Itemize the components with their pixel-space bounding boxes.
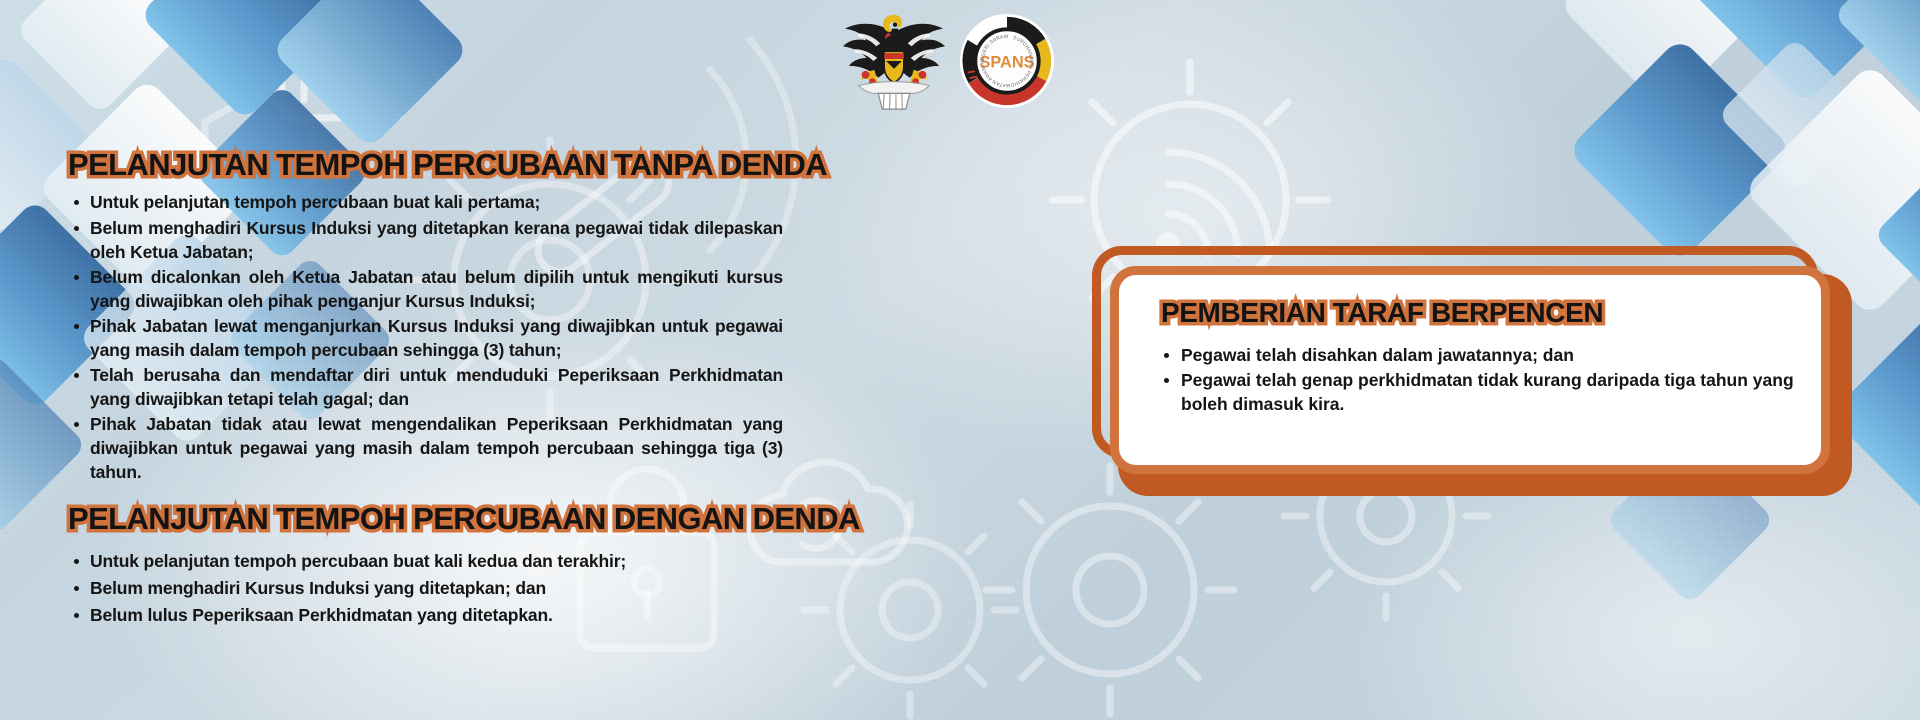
logo-row: SPANS SURUHANJAYA PERKHIDMATAN AWAM NEGE… <box>835 6 1085 116</box>
list-item: Untuk pelanjutan tempoh percubaan buat k… <box>68 549 828 573</box>
sarawak-coat-of-arms-icon <box>835 7 953 115</box>
banner-stage: SPANS SURUHANJAYA PERKHIDMATAN AWAM NEGE… <box>0 0 1920 720</box>
list-item: Pegawai telah disahkan dalam jawatannya;… <box>1159 343 1795 367</box>
pension-card-zone: PEMBERIAN TARAF BERPENCEN Pegawai telah … <box>1092 246 1852 496</box>
list-item: Untuk pelanjutan tempoh percubaan buat k… <box>68 190 783 214</box>
section-heading-tanpa-denda: PELANJUTAN TEMPOH PERCUBAAN TANPA DENDA <box>68 148 827 181</box>
svg-text:SPANS: SPANS <box>980 54 1035 72</box>
bullet-list-dengan-denda: Untuk pelanjutan tempoh percubaan buat k… <box>68 549 828 627</box>
list-item: Belum menghadiri Kursus Induksi yang dit… <box>68 576 828 600</box>
list-item: Belum dicalonkan oleh Ketua Jabatan atau… <box>68 265 783 313</box>
left-content-column: PELANJUTAN TEMPOH PERCUBAAN TANPA DENDA … <box>68 148 968 630</box>
spans-logo-icon: SPANS SURUHANJAYA PERKHIDMATAN AWAM NEGE… <box>959 13 1055 109</box>
card-heading: PEMBERIAN TARAF BERPENCEN <box>1161 297 1603 329</box>
section-heading-wrap-2: PELANJUTAN TEMPOH PERCUBAAN DENGAN DENDA <box>68 502 968 535</box>
list-item: Belum menghadiri Kursus Induksi yang dit… <box>68 216 783 264</box>
bullet-list-tanpa-denda: Untuk pelanjutan tempoh percubaan buat k… <box>68 190 783 484</box>
pension-card: PEMBERIAN TARAF BERPENCEN Pegawai telah … <box>1110 266 1830 474</box>
list-item: Belum lulus Peperiksaan Perkhidmatan yan… <box>68 603 828 627</box>
list-item: Pihak Jabatan lewat menganjurkan Kursus … <box>68 314 783 362</box>
section-heading-wrap-1: PELANJUTAN TEMPOH PERCUBAAN TANPA DENDA <box>68 148 968 181</box>
list-item: Pegawai telah genap perkhidmatan tidak k… <box>1159 368 1795 416</box>
section-heading-dengan-denda: PELANJUTAN TEMPOH PERCUBAAN DENGAN DENDA <box>68 502 860 535</box>
list-item: Pihak Jabatan tidak atau lewat mengendal… <box>68 412 783 484</box>
bullet-list-pemberian-taraf: Pegawai telah disahkan dalam jawatannya;… <box>1145 343 1795 416</box>
list-item: Telah berusaha dan mendaftar diri untuk … <box>68 363 783 411</box>
